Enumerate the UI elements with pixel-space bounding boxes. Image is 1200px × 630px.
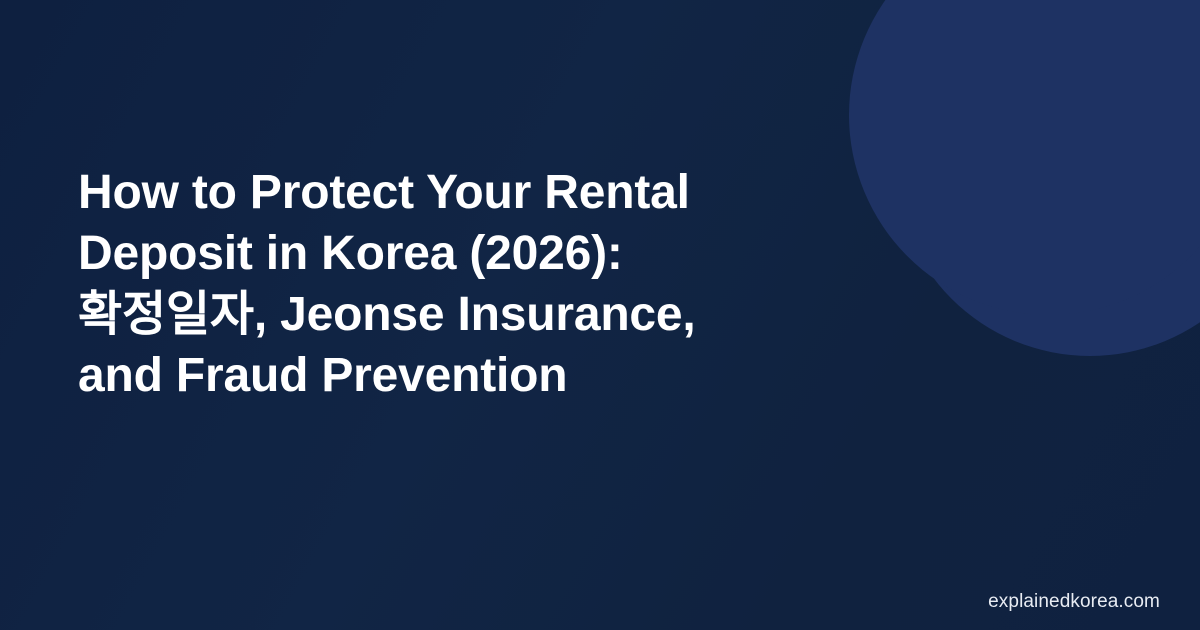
title-line-3: 확정일자, Jeonse Insurance,	[78, 284, 858, 345]
title-line-4: and Fraud Prevention	[78, 345, 858, 406]
title-line-1: How to Protect Your Rental	[78, 162, 858, 223]
site-name-label: explainedkorea.com	[988, 591, 1160, 613]
decorative-circle-back	[894, 0, 1200, 356]
title-line-2: Deposit in Korea (2026):	[78, 223, 858, 284]
og-banner: How to Protect Your Rental Deposit in Ko…	[0, 0, 1200, 630]
page-title: How to Protect Your Rental Deposit in Ko…	[78, 162, 858, 406]
decorative-circle-front	[849, 0, 1200, 315]
